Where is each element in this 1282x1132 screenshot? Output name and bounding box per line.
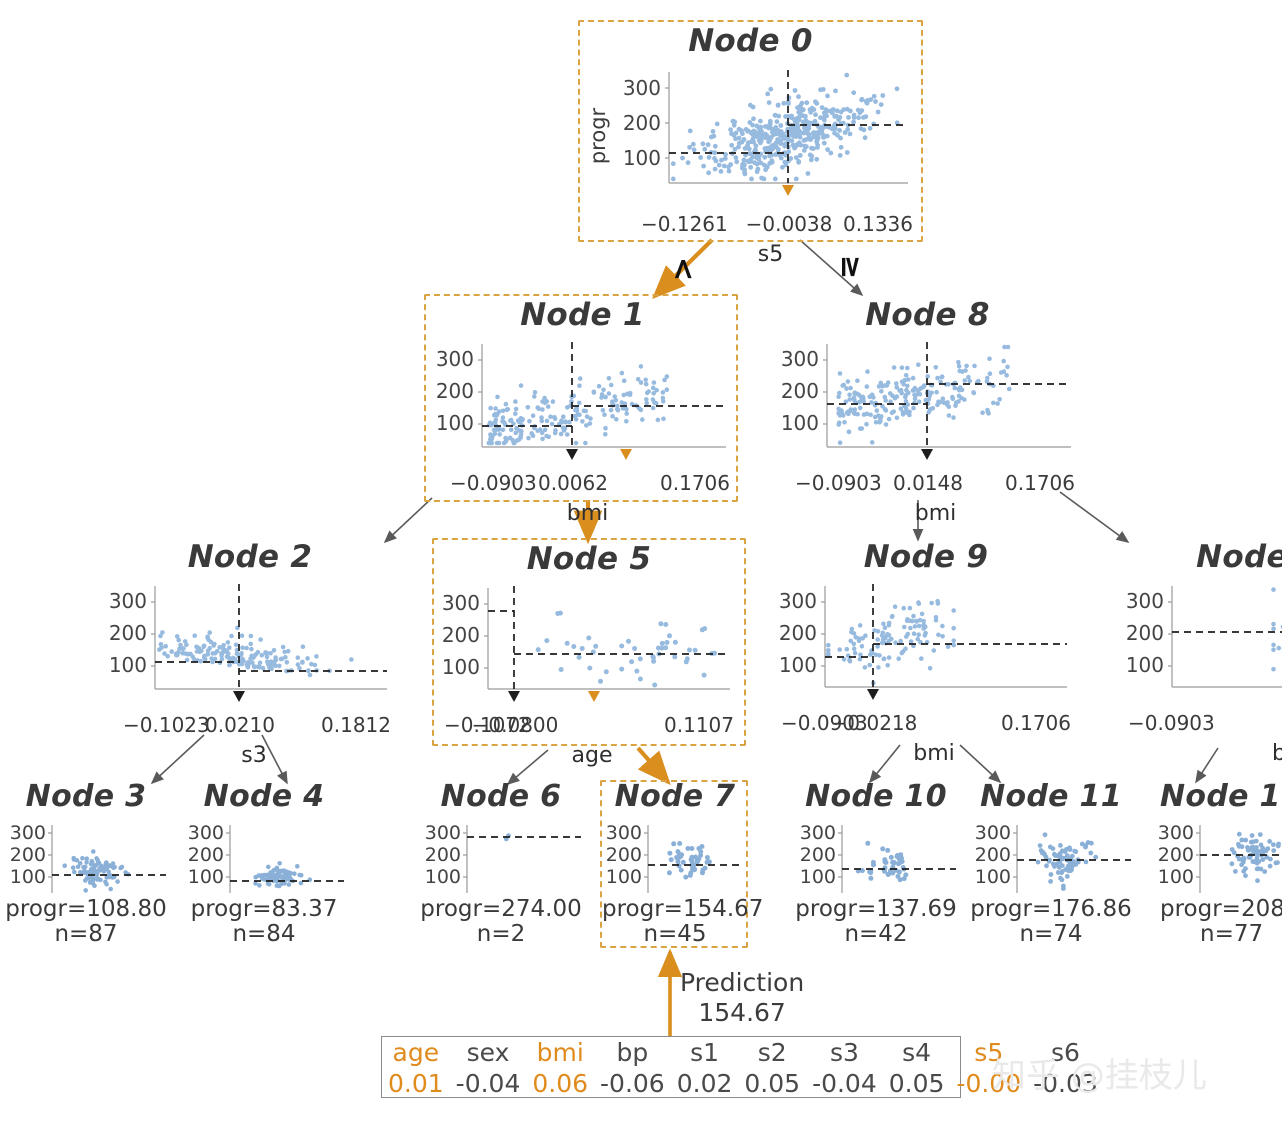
node3-ytick-300: 300 bbox=[10, 822, 46, 844]
node7-title: Node 7 bbox=[602, 780, 748, 813]
node0-xlabel: s5 bbox=[623, 242, 918, 267]
node2-xtick-0: −0.1023 bbox=[123, 713, 210, 737]
node0-xticks: −0.1261 −0.0038 0.1336 bbox=[583, 213, 918, 239]
node5-xtick-1: −0.0800 bbox=[472, 713, 559, 737]
node5-xticks: −0.1072 −0.0800 0.1107 bbox=[438, 714, 740, 740]
node-node7[interactable]: Node 7 300 200 100 progr=154.67 n=45 bbox=[602, 780, 748, 947]
prediction-value: 154.67 bbox=[680, 998, 804, 1028]
node4-title: Node 4 bbox=[178, 780, 350, 813]
node6-ytick-100: 100 bbox=[425, 866, 461, 888]
node0-ytick-200: 200 bbox=[623, 111, 661, 135]
node11-stat: progr=176.86 bbox=[965, 897, 1137, 922]
node2-title: Node 2 bbox=[105, 540, 395, 574]
node3-ytick-100: 100 bbox=[10, 866, 46, 888]
node-node2[interactable]: Node 2 300 200 100 −0.1023 0.0210 0. bbox=[105, 540, 395, 768]
node6-ytick-300: 300 bbox=[425, 822, 461, 844]
node11-ytick-200: 200 bbox=[975, 844, 1011, 866]
node5-plot: 300 200 100 −0.1072 −0.0800 0.1107 bbox=[438, 576, 740, 768]
node6-title: Node 6 bbox=[415, 780, 587, 813]
node9-title: Node 9 bbox=[775, 540, 1077, 574]
node1-xtick-1: 0.0062 bbox=[538, 471, 608, 495]
node4-ytick-200: 200 bbox=[188, 844, 224, 866]
node1-scatter: 300 200 100 bbox=[430, 332, 735, 472]
node11-ytick-100: 100 bbox=[975, 866, 1011, 888]
node5-title: Node 5 bbox=[438, 542, 740, 576]
node5-ytick-200: 200 bbox=[442, 623, 480, 647]
node1-xtick-0: −0.0903 bbox=[450, 471, 537, 495]
node8-xlabel: bmi bbox=[791, 501, 1080, 526]
feature-header-age: age bbox=[382, 1037, 450, 1068]
node13-stat: progr=208. bbox=[1142, 897, 1282, 922]
node7-scatter: 300 200 100 bbox=[602, 817, 748, 897]
node0-title: Node 0 bbox=[583, 24, 918, 58]
node9-plot: 300 200 100 −0.0903 −0.0218 0.1706 bmi bbox=[775, 574, 1077, 766]
node2-xtick-1: 0.0210 bbox=[205, 713, 275, 737]
node12-ytick-100: 100 bbox=[1126, 653, 1164, 677]
feature-header-s1: s1 bbox=[671, 1037, 739, 1068]
feature-header-s2: s2 bbox=[738, 1037, 806, 1068]
node7-stat: progr=154.67 bbox=[602, 897, 748, 922]
node-node4[interactable]: Node 4 300 200 100 progr=83.37 n=84 bbox=[178, 780, 350, 947]
node5-scatter: 300 200 100 bbox=[438, 576, 740, 714]
node1-xticks: −0.0903 0.0062 0.1706 bbox=[430, 472, 735, 498]
node9-ytick-200: 200 bbox=[779, 621, 817, 645]
node5-ytick-100: 100 bbox=[442, 655, 480, 679]
node6-scatter: 300 200 100 bbox=[415, 817, 587, 897]
node2-xtick-2: 0.1812 bbox=[321, 713, 391, 737]
node12-xlabel: bmi bbox=[1172, 741, 1282, 766]
node-node8[interactable]: Node 8 300 200 100 −0.0903 0.0148 0. bbox=[775, 298, 1080, 526]
node4-count: n=84 bbox=[178, 922, 350, 947]
feature-value-s3: -0.04 bbox=[806, 1068, 883, 1099]
node12-plot: 300 200 100 −0.0903 0 bmi bbox=[1122, 574, 1282, 766]
edge-node1-node2 bbox=[385, 498, 432, 542]
node13-ytick-200: 200 bbox=[1158, 844, 1194, 866]
node4-stat: progr=83.37 bbox=[178, 897, 350, 922]
node0-xtick-2: 0.1336 bbox=[843, 212, 913, 236]
node8-ytick-200: 200 bbox=[781, 379, 819, 403]
node7-ytick-100: 100 bbox=[606, 866, 642, 888]
node10-ytick-200: 200 bbox=[800, 844, 836, 866]
node4-ytick-100: 100 bbox=[188, 866, 224, 888]
feature-value-bmi: 0.06 bbox=[526, 1068, 594, 1099]
node1-ytick-200: 200 bbox=[436, 379, 474, 403]
feature-value-s1: 0.02 bbox=[671, 1068, 739, 1099]
node0-xtick-0: −0.1261 bbox=[641, 212, 728, 236]
feature-header-s3: s3 bbox=[806, 1037, 883, 1068]
node-node11[interactable]: Node 11 300 200 100 progr=176.86 n=74 bbox=[965, 780, 1137, 947]
node13-count: n=77 bbox=[1142, 922, 1282, 947]
node9-xticks: −0.0903 −0.0218 0.1706 bbox=[775, 712, 1077, 738]
node10-scatter: 300 200 100 bbox=[790, 817, 962, 897]
feature-values-table[interactable]: age sex bmi bp s1 s2 s3 s4 s5 s6 0.01 -0… bbox=[381, 1036, 961, 1098]
node1-ytick-300: 300 bbox=[436, 347, 474, 371]
node0-xtick-1: −0.0038 bbox=[746, 212, 833, 236]
watermark: 知乎 @挂枝儿 bbox=[992, 1048, 1207, 1097]
node-node5[interactable]: Node 5 300 200 100 −0.1072 −0.0800 bbox=[438, 542, 740, 768]
node9-ytick-300: 300 bbox=[779, 589, 817, 613]
node3-ytick-200: 200 bbox=[10, 844, 46, 866]
node11-ytick-300: 300 bbox=[975, 822, 1011, 844]
node13-scatter: 300 200 100 bbox=[1142, 817, 1282, 897]
node-node1[interactable]: Node 1 300 200 100 −0.0903 0.0062 bbox=[430, 298, 735, 526]
node6-ytick-200: 200 bbox=[425, 844, 461, 866]
node8-ytick-300: 300 bbox=[781, 347, 819, 371]
node13-ytick-100: 100 bbox=[1158, 866, 1194, 888]
prediction-block: Prediction 154.67 bbox=[680, 968, 804, 1028]
feature-value-s4: 0.05 bbox=[883, 1068, 951, 1099]
node13-ytick-300: 300 bbox=[1158, 822, 1194, 844]
node2-xlabel: s3 bbox=[113, 743, 395, 768]
node10-stat: progr=137.69 bbox=[790, 897, 962, 922]
node2-plot: 300 200 100 −0.1023 0.0210 0.1812 s3 bbox=[105, 574, 395, 768]
feature-header-s4: s4 bbox=[883, 1037, 951, 1068]
node8-scatter: 300 200 100 bbox=[775, 332, 1080, 472]
node0-plot: progr 300 200 100 −0.1261 −0.0038 0.1336 bbox=[583, 58, 918, 267]
node2-ytick-100: 100 bbox=[109, 653, 147, 677]
node8-xtick-0: −0.0903 bbox=[795, 471, 882, 495]
feature-value-bp: -0.06 bbox=[594, 1068, 671, 1099]
tree-visualization-canvas: < ≥ Node 0 progr 300 200 100 −0 bbox=[0, 0, 1282, 1132]
node12-ytick-200: 200 bbox=[1126, 621, 1164, 645]
node13-title: Node 1 bbox=[1142, 780, 1282, 813]
node9-xlabel: bmi bbox=[791, 741, 1077, 766]
node8-xtick-1: 0.0148 bbox=[893, 471, 963, 495]
node10-count: n=42 bbox=[790, 922, 962, 947]
feature-value-s2: 0.05 bbox=[738, 1068, 806, 1099]
node11-count: n=74 bbox=[965, 922, 1137, 947]
node1-title: Node 1 bbox=[430, 298, 735, 332]
node0-ylabel: progr bbox=[586, 107, 610, 164]
node3-scatter: 300 200 100 bbox=[0, 817, 172, 897]
feature-header-bmi: bmi bbox=[526, 1037, 594, 1068]
node6-stat: progr=274.00 bbox=[415, 897, 587, 922]
node11-title: Node 11 bbox=[965, 780, 1137, 813]
node8-title: Node 8 bbox=[775, 298, 1080, 332]
node8-ytick-100: 100 bbox=[781, 411, 819, 435]
node-node6[interactable]: Node 6 300 200 100 progr=274.00 n=2 bbox=[415, 780, 587, 947]
node10-title: Node 10 bbox=[790, 780, 962, 813]
feature-value-sex: -0.04 bbox=[450, 1068, 527, 1099]
node3-count: n=87 bbox=[0, 922, 172, 947]
node7-count: n=45 bbox=[602, 922, 748, 947]
node-node12[interactable]: Node 300 200 100 −0.0903 0 bmi bbox=[1122, 540, 1282, 766]
node3-stat: progr=108.80 bbox=[0, 897, 172, 922]
node2-ytick-300: 300 bbox=[109, 589, 147, 613]
node0-scatter: progr 300 200 100 bbox=[583, 58, 918, 213]
node6-count: n=2 bbox=[415, 922, 587, 947]
node12-scatter: 300 200 100 bbox=[1122, 574, 1282, 712]
node4-scatter: 300 200 100 bbox=[178, 817, 350, 897]
node12-xtick-0: −0.0903 bbox=[1128, 711, 1215, 735]
node10-ytick-300: 300 bbox=[800, 822, 836, 844]
feature-header-bp: bp bbox=[594, 1037, 671, 1068]
prediction-label: Prediction bbox=[680, 968, 804, 998]
node9-xtick-1: −0.0218 bbox=[831, 711, 918, 735]
node2-ytick-200: 200 bbox=[109, 621, 147, 645]
node5-xlabel: age bbox=[444, 743, 740, 768]
node-node9[interactable]: Node 9 300 200 100 −0.0903 −0.0218 0 bbox=[775, 540, 1077, 766]
node12-title: Node bbox=[1122, 540, 1282, 574]
node3-title: Node 3 bbox=[0, 780, 172, 813]
node8-xtick-2: 0.1706 bbox=[1005, 471, 1075, 495]
node1-xlabel: bmi bbox=[440, 501, 735, 526]
node9-ytick-100: 100 bbox=[779, 653, 817, 677]
node-node13[interactable]: Node 1 300 200 100 progr=208. n=77 bbox=[1142, 780, 1282, 947]
node-node10[interactable]: Node 10 300 200 100 progr=137.69 n=42 bbox=[790, 780, 962, 947]
node4-ytick-300: 300 bbox=[188, 822, 224, 844]
feature-header-sex: sex bbox=[450, 1037, 527, 1068]
node2-xticks: −0.1023 0.0210 0.1812 bbox=[105, 714, 395, 740]
node5-xtick-2: 0.1107 bbox=[664, 713, 734, 737]
node8-plot: 300 200 100 −0.0903 0.0148 0.1706 bmi bbox=[775, 332, 1080, 526]
node-node0[interactable]: Node 0 progr 300 200 100 −0.1261 −0. bbox=[583, 24, 918, 267]
node7-ytick-300: 300 bbox=[606, 822, 642, 844]
feature-value-age: 0.01 bbox=[382, 1068, 450, 1099]
node12-ytick-300: 300 bbox=[1126, 589, 1164, 613]
node2-scatter: 300 200 100 bbox=[105, 574, 395, 714]
node1-plot: 300 200 100 −0.0903 0.0062 0.1706 bbox=[430, 332, 735, 526]
node7-ytick-200: 200 bbox=[606, 844, 642, 866]
node9-scatter: 300 200 100 bbox=[775, 574, 1077, 712]
node0-ytick-100: 100 bbox=[623, 146, 661, 170]
node-node3[interactable]: Node 3 300 200 100 progr=108.80 n=87 bbox=[0, 780, 172, 947]
node10-ytick-100: 100 bbox=[800, 866, 836, 888]
node8-xticks: −0.0903 0.0148 0.1706 bbox=[775, 472, 1080, 498]
node11-scatter: 300 200 100 bbox=[965, 817, 1137, 897]
node12-xticks: −0.0903 0 bbox=[1122, 712, 1282, 738]
node5-ytick-300: 300 bbox=[442, 591, 480, 615]
node0-ytick-300: 300 bbox=[623, 76, 661, 100]
node1-xtick-2: 0.1706 bbox=[660, 471, 730, 495]
node9-xtick-2: 0.1706 bbox=[1001, 711, 1071, 735]
node1-ytick-100: 100 bbox=[436, 411, 474, 435]
